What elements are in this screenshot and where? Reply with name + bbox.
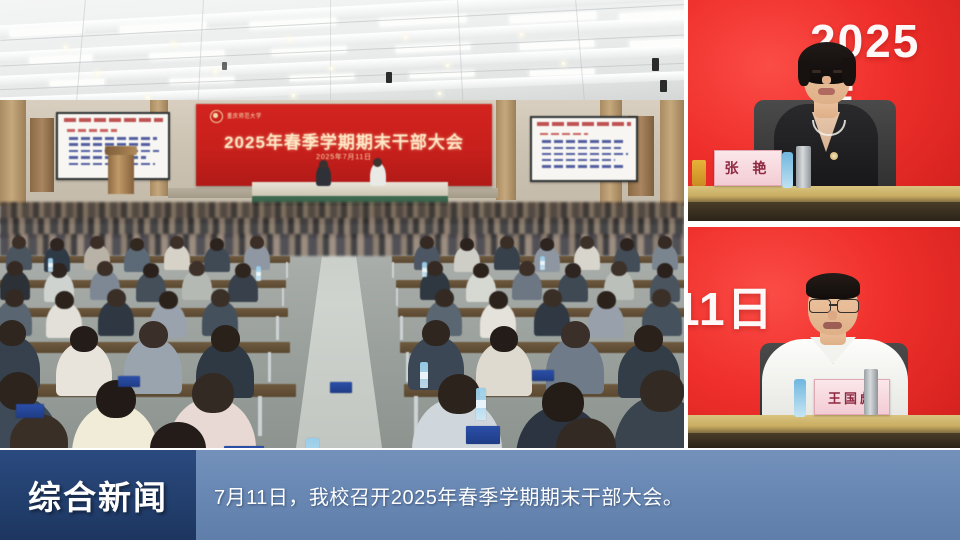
water-bottle — [422, 262, 427, 277]
chair-name-card — [330, 382, 352, 393]
official-head — [373, 158, 382, 167]
speaker-hair — [806, 273, 860, 299]
water-bottle — [794, 379, 806, 417]
microphone — [796, 146, 811, 188]
stage-banner-date: 2025年7月11日 — [196, 152, 492, 162]
tea-cup — [692, 160, 706, 186]
water-bottle — [782, 152, 793, 188]
microphone — [864, 369, 878, 415]
speaker-panel-top: 2025年 — [688, 0, 960, 221]
speaker-name-plate[interactable]: 张 艳 — [714, 150, 782, 186]
chair-name-card — [16, 404, 44, 418]
glasses-icon — [837, 299, 859, 313]
caption-text: 7月11日，我校召开2025年春季学期期末干部大会。 — [214, 481, 683, 510]
ceiling — [0, 0, 684, 112]
speaker-panel-bottom: 11日 王国彪 — [688, 227, 960, 448]
news-category-label: 综合新闻 — [28, 471, 168, 519]
chair-name-card — [532, 370, 554, 381]
projection-screen-right — [530, 116, 638, 182]
official-head — [319, 160, 328, 169]
conference-table — [688, 415, 960, 435]
backdrop-text: 11日 — [688, 273, 775, 339]
ceiling-speaker — [386, 72, 392, 83]
broadcast-frame: 重庆师范大学 2025年春季学期期末干部大会 2025年7月11日 — [0, 0, 960, 540]
audience-area — [0, 200, 684, 448]
speaker-panels: 2025年 — [688, 0, 960, 448]
water-bottle — [256, 266, 261, 281]
university-name: 重庆师范大学 — [227, 112, 262, 120]
water-bottle — [306, 438, 319, 448]
stage-banner-title: 2025年春季学期期末干部大会 — [196, 128, 492, 153]
ceiling-speaker — [660, 80, 667, 92]
table-front — [688, 433, 960, 448]
stage-backdrop-banner: 重庆师范大学 2025年春季学期期末干部大会 2025年7月11日 — [196, 104, 492, 186]
water-bottle — [476, 388, 486, 420]
speaker-name-plate[interactable]: 王国彪 — [814, 379, 890, 415]
lapel-badge — [830, 152, 838, 160]
university-emblem-icon — [210, 110, 223, 123]
speaker-name: 张 艳 — [725, 158, 772, 178]
caption-area: 7月11日，我校召开2025年春季学期期末干部大会。 — [214, 450, 944, 540]
news-category-block: 综合新闻 — [0, 450, 196, 540]
main-auditorium-photo: 重庆师范大学 2025年春季学期期末干部大会 2025年7月11日 — [0, 0, 684, 448]
glasses-icon — [809, 299, 831, 313]
ceiling-speaker — [652, 58, 659, 71]
chair-name-card — [466, 426, 500, 444]
water-bottle — [48, 258, 53, 272]
table-front — [688, 202, 960, 221]
university-logo: 重庆师范大学 — [210, 110, 262, 123]
water-bottle — [420, 362, 428, 388]
chair-name-card — [118, 376, 140, 387]
water-bottle — [540, 256, 545, 270]
ceiling-speaker — [222, 62, 227, 70]
podium — [108, 150, 134, 194]
